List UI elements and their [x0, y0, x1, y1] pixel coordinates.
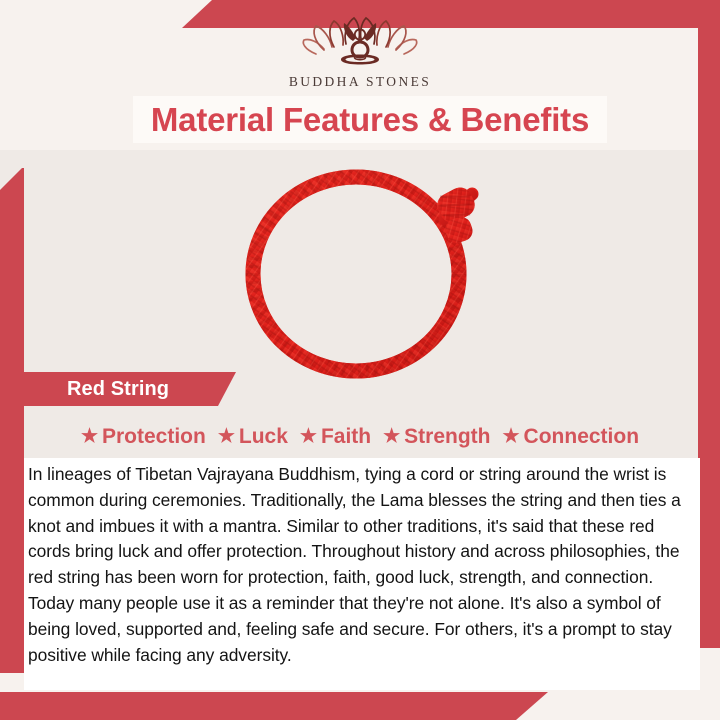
benefits-list: ★ Protection ★ Luck ★ Faith ★ Strength ★… [24, 420, 696, 454]
benefit-label: Luck [239, 425, 288, 449]
description-text: In lineages of Tibetan Vajrayana Buddhis… [28, 462, 688, 668]
benefit-item-strength: ★ Strength [383, 425, 490, 449]
benefit-label: Protection [102, 425, 206, 449]
star-icon: ★ [300, 427, 317, 446]
brand-name: BUDDHA STONES [289, 74, 431, 90]
benefit-item-connection: ★ Connection [503, 425, 640, 449]
lotus-meditation-figure-icon [298, 16, 422, 72]
product-tag-banner: Red String [22, 372, 236, 406]
benefit-item-faith: ★ Faith [300, 425, 371, 449]
frame-right-bar [698, 28, 720, 648]
page-title: Material Features & Benefits [151, 101, 589, 139]
frame-bottom-bar [0, 692, 720, 720]
product-image-red-string-bracelet [232, 156, 494, 380]
title-banner: Material Features & Benefits [133, 96, 607, 143]
brand-logo: BUDDHA STONES [0, 16, 720, 90]
benefit-item-protection: ★ Protection [81, 425, 206, 449]
product-tag-label: Red String [67, 378, 169, 401]
star-icon: ★ [503, 427, 520, 446]
description-panel: In lineages of Tibetan Vajrayana Buddhis… [24, 458, 700, 690]
benefit-label: Connection [524, 425, 640, 449]
benefit-label: Strength [404, 425, 490, 449]
star-icon: ★ [383, 427, 400, 446]
braided-cord-illustration [232, 156, 494, 380]
infographic-page: BUDDHA STONES Material Features & Benefi… [0, 0, 720, 720]
benefit-label: Faith [321, 425, 371, 449]
benefit-item-luck: ★ Luck [218, 425, 288, 449]
star-icon: ★ [218, 427, 235, 446]
star-icon: ★ [81, 427, 98, 446]
frame-left-bar [0, 168, 24, 673]
